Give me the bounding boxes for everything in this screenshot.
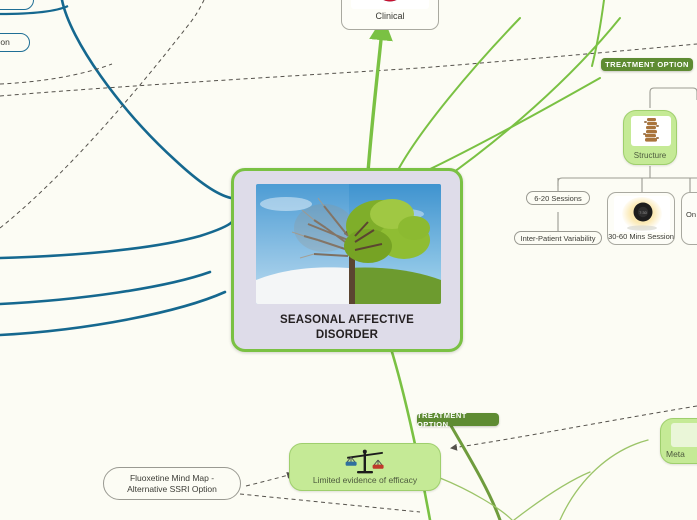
node-clipped-meta-label: Meta (666, 449, 685, 459)
node-structure-label: Structure (624, 151, 676, 160)
node-limited-evidence-of-efficacy[interactable]: Limited evidence of efficacy (289, 443, 441, 491)
central-node-image (256, 184, 441, 304)
node-6-20-sessions-label: 6-20 Sessions (534, 193, 582, 204)
node-inter-patient-variability-label: Inter-Patient Variability (521, 233, 596, 244)
node-clinical[interactable]: Clinical (341, 0, 439, 30)
node-clipped-on-right[interactable]: On (681, 192, 697, 245)
node-clinical-label: Clinical (342, 11, 438, 21)
node-fluoxetine-mind-map[interactable]: Fluoxetine Mind Map - Alternative SSRI O… (103, 467, 241, 500)
node-common-label: mmon (0, 37, 10, 48)
node-limited-evidence-label: Limited evidence of efficacy (290, 475, 440, 485)
badge-treatment-option-bottom[interactable]: TREATMENT OPTION (417, 413, 499, 426)
spine-icon (631, 116, 671, 146)
node-inter-patient-variability[interactable]: Inter-Patient Variability (514, 231, 602, 245)
stethoscope-icon (351, 0, 429, 9)
central-title-line2: DISORDER (316, 329, 378, 341)
central-title-line1: SEASONAL AFFECTIVE (280, 314, 414, 326)
meta-icon (671, 423, 697, 447)
node-fluoxetine-label-line1: Fluoxetine Mind Map - (130, 473, 214, 484)
badge-treatment-option-right[interactable]: TREATMENT OPTION (601, 58, 693, 71)
node-clipped-meta[interactable]: Meta (660, 418, 697, 464)
node-clipped-topleft[interactable] (0, 0, 34, 10)
central-node-title: SEASONAL AFFECTIVE DISORDER (234, 313, 460, 343)
mind-map-canvas[interactable]: mmon Clinical (0, 0, 697, 520)
node-common[interactable]: mmon (0, 33, 30, 52)
node-fluoxetine-label-line2: Alternative SSRI Option (127, 484, 217, 495)
node-structure[interactable]: Structure (623, 110, 677, 165)
svg-text:7:30: 7:30 (639, 210, 648, 215)
node-clipped-on-label: On (686, 210, 696, 219)
light-therapy-lamp-icon: 7:30 (614, 196, 670, 232)
node-6-20-sessions[interactable]: 6-20 Sessions (526, 191, 590, 205)
node-30-60-mins-session[interactable]: 7:30 30-60 Mins Session (607, 192, 675, 245)
central-node-seasonal-affective-disorder[interactable]: SEASONAL AFFECTIVE DISORDER (231, 168, 463, 352)
node-30-60-mins-session-label: 30-60 Mins Session (608, 232, 674, 241)
